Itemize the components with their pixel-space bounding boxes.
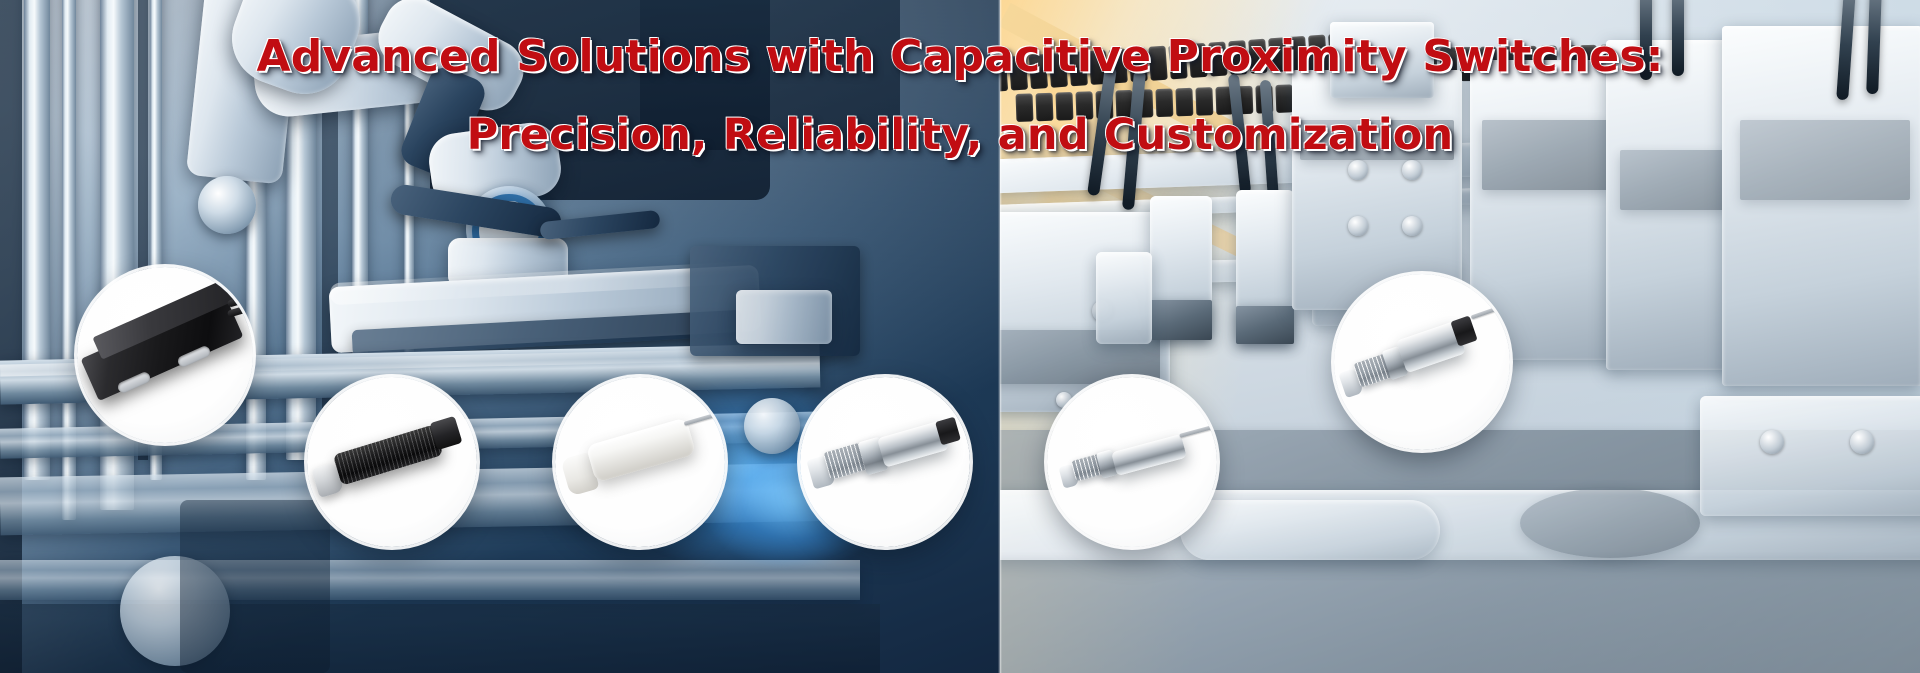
product-circle-steel-short-barrel-sensor[interactable] bbox=[1334, 274, 1510, 450]
product-circle-white-ptfe-barrel-sensor[interactable] bbox=[555, 377, 725, 547]
promotional-banner: Advanced Solutions with Capacitive Proxi… bbox=[0, 0, 1920, 673]
background-seam bbox=[998, 0, 1002, 673]
product-circle-rectangular-block-sensor[interactable] bbox=[77, 267, 253, 443]
white-barrel-body bbox=[586, 417, 696, 482]
steel-slim-cable bbox=[1179, 424, 1217, 438]
product-circle-steel-hex-barrel-sensor[interactable] bbox=[800, 377, 970, 547]
steel-slim-barrel-body bbox=[1111, 434, 1187, 476]
black-barrel-threaded-body bbox=[333, 424, 444, 486]
product-circle-black-threaded-barrel-sensor[interactable] bbox=[307, 377, 477, 547]
product-circle-steel-slim-barrel-sensor[interactable] bbox=[1047, 377, 1217, 547]
